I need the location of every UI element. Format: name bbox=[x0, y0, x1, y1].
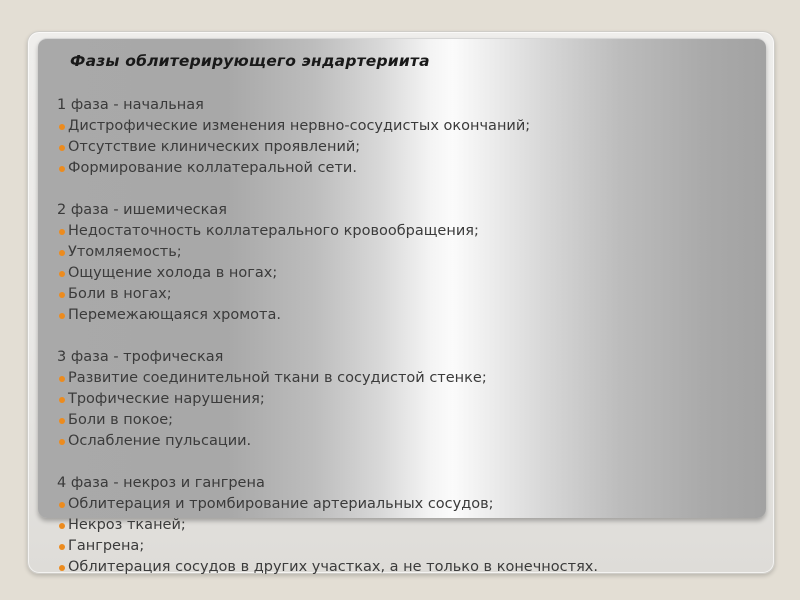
list-item: Облитерация и тромбирование артериальных… bbox=[57, 494, 757, 515]
list-item-label: Развитие соединительной ткани в сосудист… bbox=[68, 370, 487, 386]
list-spacer bbox=[57, 179, 757, 200]
phase-heading: 3 фаза - трофическая bbox=[57, 347, 757, 368]
page-title: Фазы облитерирующего эндартериита bbox=[70, 52, 430, 70]
list-item-label: Утомляемость; bbox=[68, 244, 182, 260]
list-item-label: Ослабление пульсации. bbox=[68, 433, 251, 449]
list-item-label: Отсутствие клинических проявлений; bbox=[68, 139, 360, 155]
list-item-label: Трофические нарушения; bbox=[68, 391, 265, 407]
bullet-dot-icon bbox=[59, 397, 65, 403]
list-item-label: Перемежающаяся хромота. bbox=[68, 307, 281, 323]
bullet-dot-icon bbox=[59, 544, 65, 550]
bullet-dot-icon bbox=[59, 292, 65, 298]
list-item-label: Недостаточность коллатерального кровообр… bbox=[68, 223, 479, 239]
bullet-dot-icon bbox=[59, 376, 65, 382]
list-item-label: Некроз тканей; bbox=[68, 517, 186, 533]
list-item: Трофические нарушения; bbox=[57, 389, 757, 410]
list-item: Развитие соединительной ткани в сосудист… bbox=[57, 368, 757, 389]
list-item-label: Боли в ногах; bbox=[68, 286, 172, 302]
bullet-dot-icon bbox=[59, 313, 65, 319]
bullet-dot-icon bbox=[59, 418, 65, 424]
bullet-dot-icon bbox=[59, 439, 65, 445]
list-item: Боли в покое; bbox=[57, 410, 757, 431]
list-item-label: Ощущение холода в ногах; bbox=[68, 265, 277, 281]
list-item: Ощущение холода в ногах; bbox=[57, 263, 757, 284]
phase-list: 1 фаза - начальнаяДистрофические изменен… bbox=[57, 95, 757, 578]
list-item-label: Дистрофические изменения нервно-сосудист… bbox=[68, 118, 530, 134]
list-spacer bbox=[57, 452, 757, 473]
bullet-dot-icon bbox=[59, 271, 65, 277]
bullet-dot-icon bbox=[59, 502, 65, 508]
list-item: Отсутствие клинических проявлений; bbox=[57, 137, 757, 158]
bullet-dot-icon bbox=[59, 145, 65, 151]
phase-heading: 1 фаза - начальная bbox=[57, 95, 757, 116]
bullet-dot-icon bbox=[59, 565, 65, 571]
list-item: Ослабление пульсации. bbox=[57, 431, 757, 452]
bullet-dot-icon bbox=[59, 250, 65, 256]
phase-heading: 2 фаза - ишемическая bbox=[57, 200, 757, 221]
list-item: Формирование коллатеральной сети. bbox=[57, 158, 757, 179]
list-item: Дистрофические изменения нервно-сосудист… bbox=[57, 116, 757, 137]
list-item: Недостаточность коллатерального кровообр… bbox=[57, 221, 757, 242]
list-item: Утомляемость; bbox=[57, 242, 757, 263]
phase-heading: 4 фаза - некроз и гангрена bbox=[57, 473, 757, 494]
list-spacer bbox=[57, 326, 757, 347]
list-item: Некроз тканей; bbox=[57, 515, 757, 536]
bullet-dot-icon bbox=[59, 523, 65, 529]
list-item: Гангрена; bbox=[57, 536, 757, 557]
list-item-label: Гангрена; bbox=[68, 538, 144, 554]
list-item: Боли в ногах; bbox=[57, 284, 757, 305]
list-item: Перемежающаяся хромота. bbox=[57, 305, 757, 326]
list-item-label: Облитерация и тромбирование артериальных… bbox=[68, 496, 494, 512]
list-item-label: Формирование коллатеральной сети. bbox=[68, 160, 357, 176]
list-item-label: Облитерация сосудов в других участках, а… bbox=[68, 559, 598, 575]
bullet-dot-icon bbox=[59, 124, 65, 130]
bullet-dot-icon bbox=[59, 166, 65, 172]
list-item: Облитерация сосудов в других участках, а… bbox=[57, 557, 757, 578]
bullet-dot-icon bbox=[59, 229, 65, 235]
list-item-label: Боли в покое; bbox=[68, 412, 173, 428]
